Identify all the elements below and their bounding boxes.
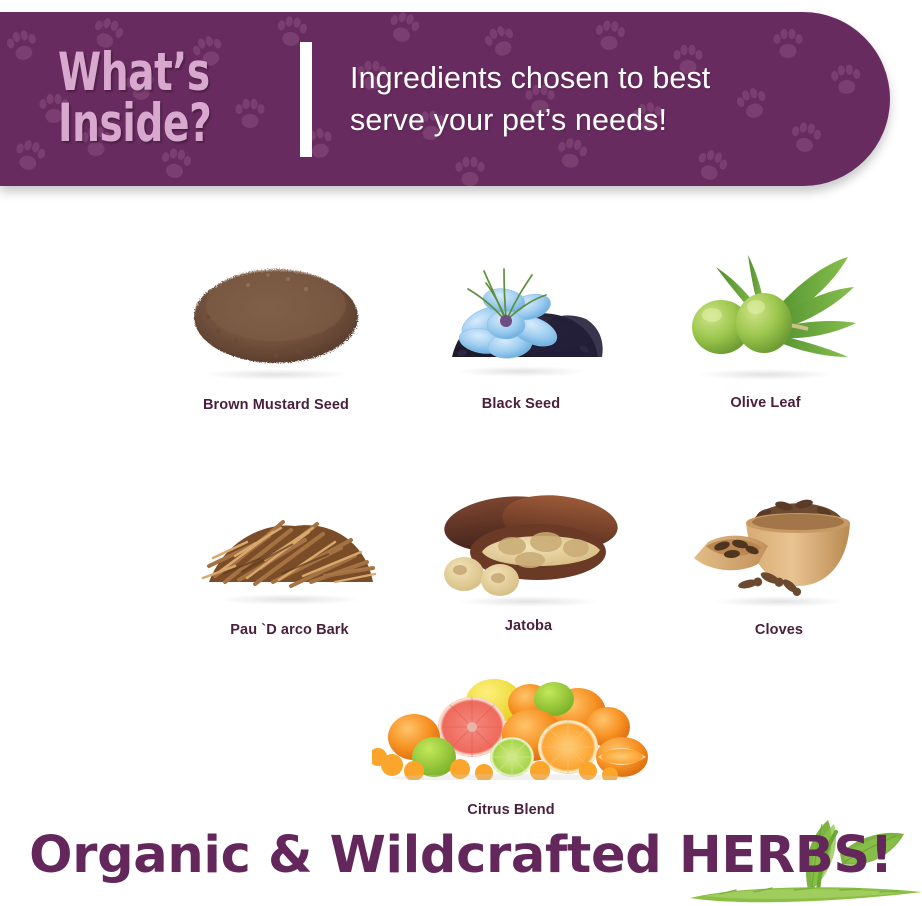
banner-heading: What’s Inside? [58,48,304,150]
ingredient-label: Pau `D arco Bark [230,622,348,638]
ingredient-label: Brown Mustard Seed [203,397,349,413]
brown-mustard-seed-photo [178,245,374,373]
ingredient-item-olive-leaf: Olive Leaf [673,245,858,413]
photo-reflection [217,594,361,605]
ingredient-item-black-seed: Black Seed [431,245,611,413]
black-seed-photo [434,245,609,370]
ingredient-label: Cloves [755,622,803,638]
photo-reflection [202,369,351,380]
ingredient-item-jatoba: Jatoba [431,470,626,638]
photo-reflection [455,366,588,377]
ingredient-label: Jatoba [505,618,552,634]
ingredient-item-brown-mustard-seed: Brown Mustard Seed [176,245,376,413]
ingredient-label: Citrus Blend [467,802,554,818]
pau-darco-bark-photo [195,470,385,598]
footer-tagline: Organic & Wildcrafted HERBS! [0,826,922,885]
ingredient-item-pau-darco-bark: Pau `D arco Bark [192,470,387,638]
ingredient-label: Olive Leaf [730,395,800,411]
jatoba-photo [434,470,624,600]
photo-reflection [697,369,834,380]
header-banner: What’s Inside? Ingredients chosen to bes… [0,12,890,186]
cloves-photo [692,470,867,600]
footer: Organic & Wildcrafted HERBS! [0,826,922,906]
olive-leaf-photo [676,245,856,373]
banner-subheading: Ingredients chosen to best serve your pe… [350,57,890,141]
ingredient-row-1: Brown Mustard Seed [0,245,922,413]
ingredient-label: Black Seed [482,396,560,412]
ingredient-row-2: Pau `D arco Bark [0,470,922,638]
photo-reflection [456,596,600,607]
ingredient-item-citrus-blend: Citrus Blend [371,665,651,818]
ingredient-row-3: Citrus Blend [0,665,922,818]
ingredient-item-cloves: Cloves [689,470,869,638]
citrus-blend-photo [372,665,650,780]
photo-reflection [713,596,846,607]
